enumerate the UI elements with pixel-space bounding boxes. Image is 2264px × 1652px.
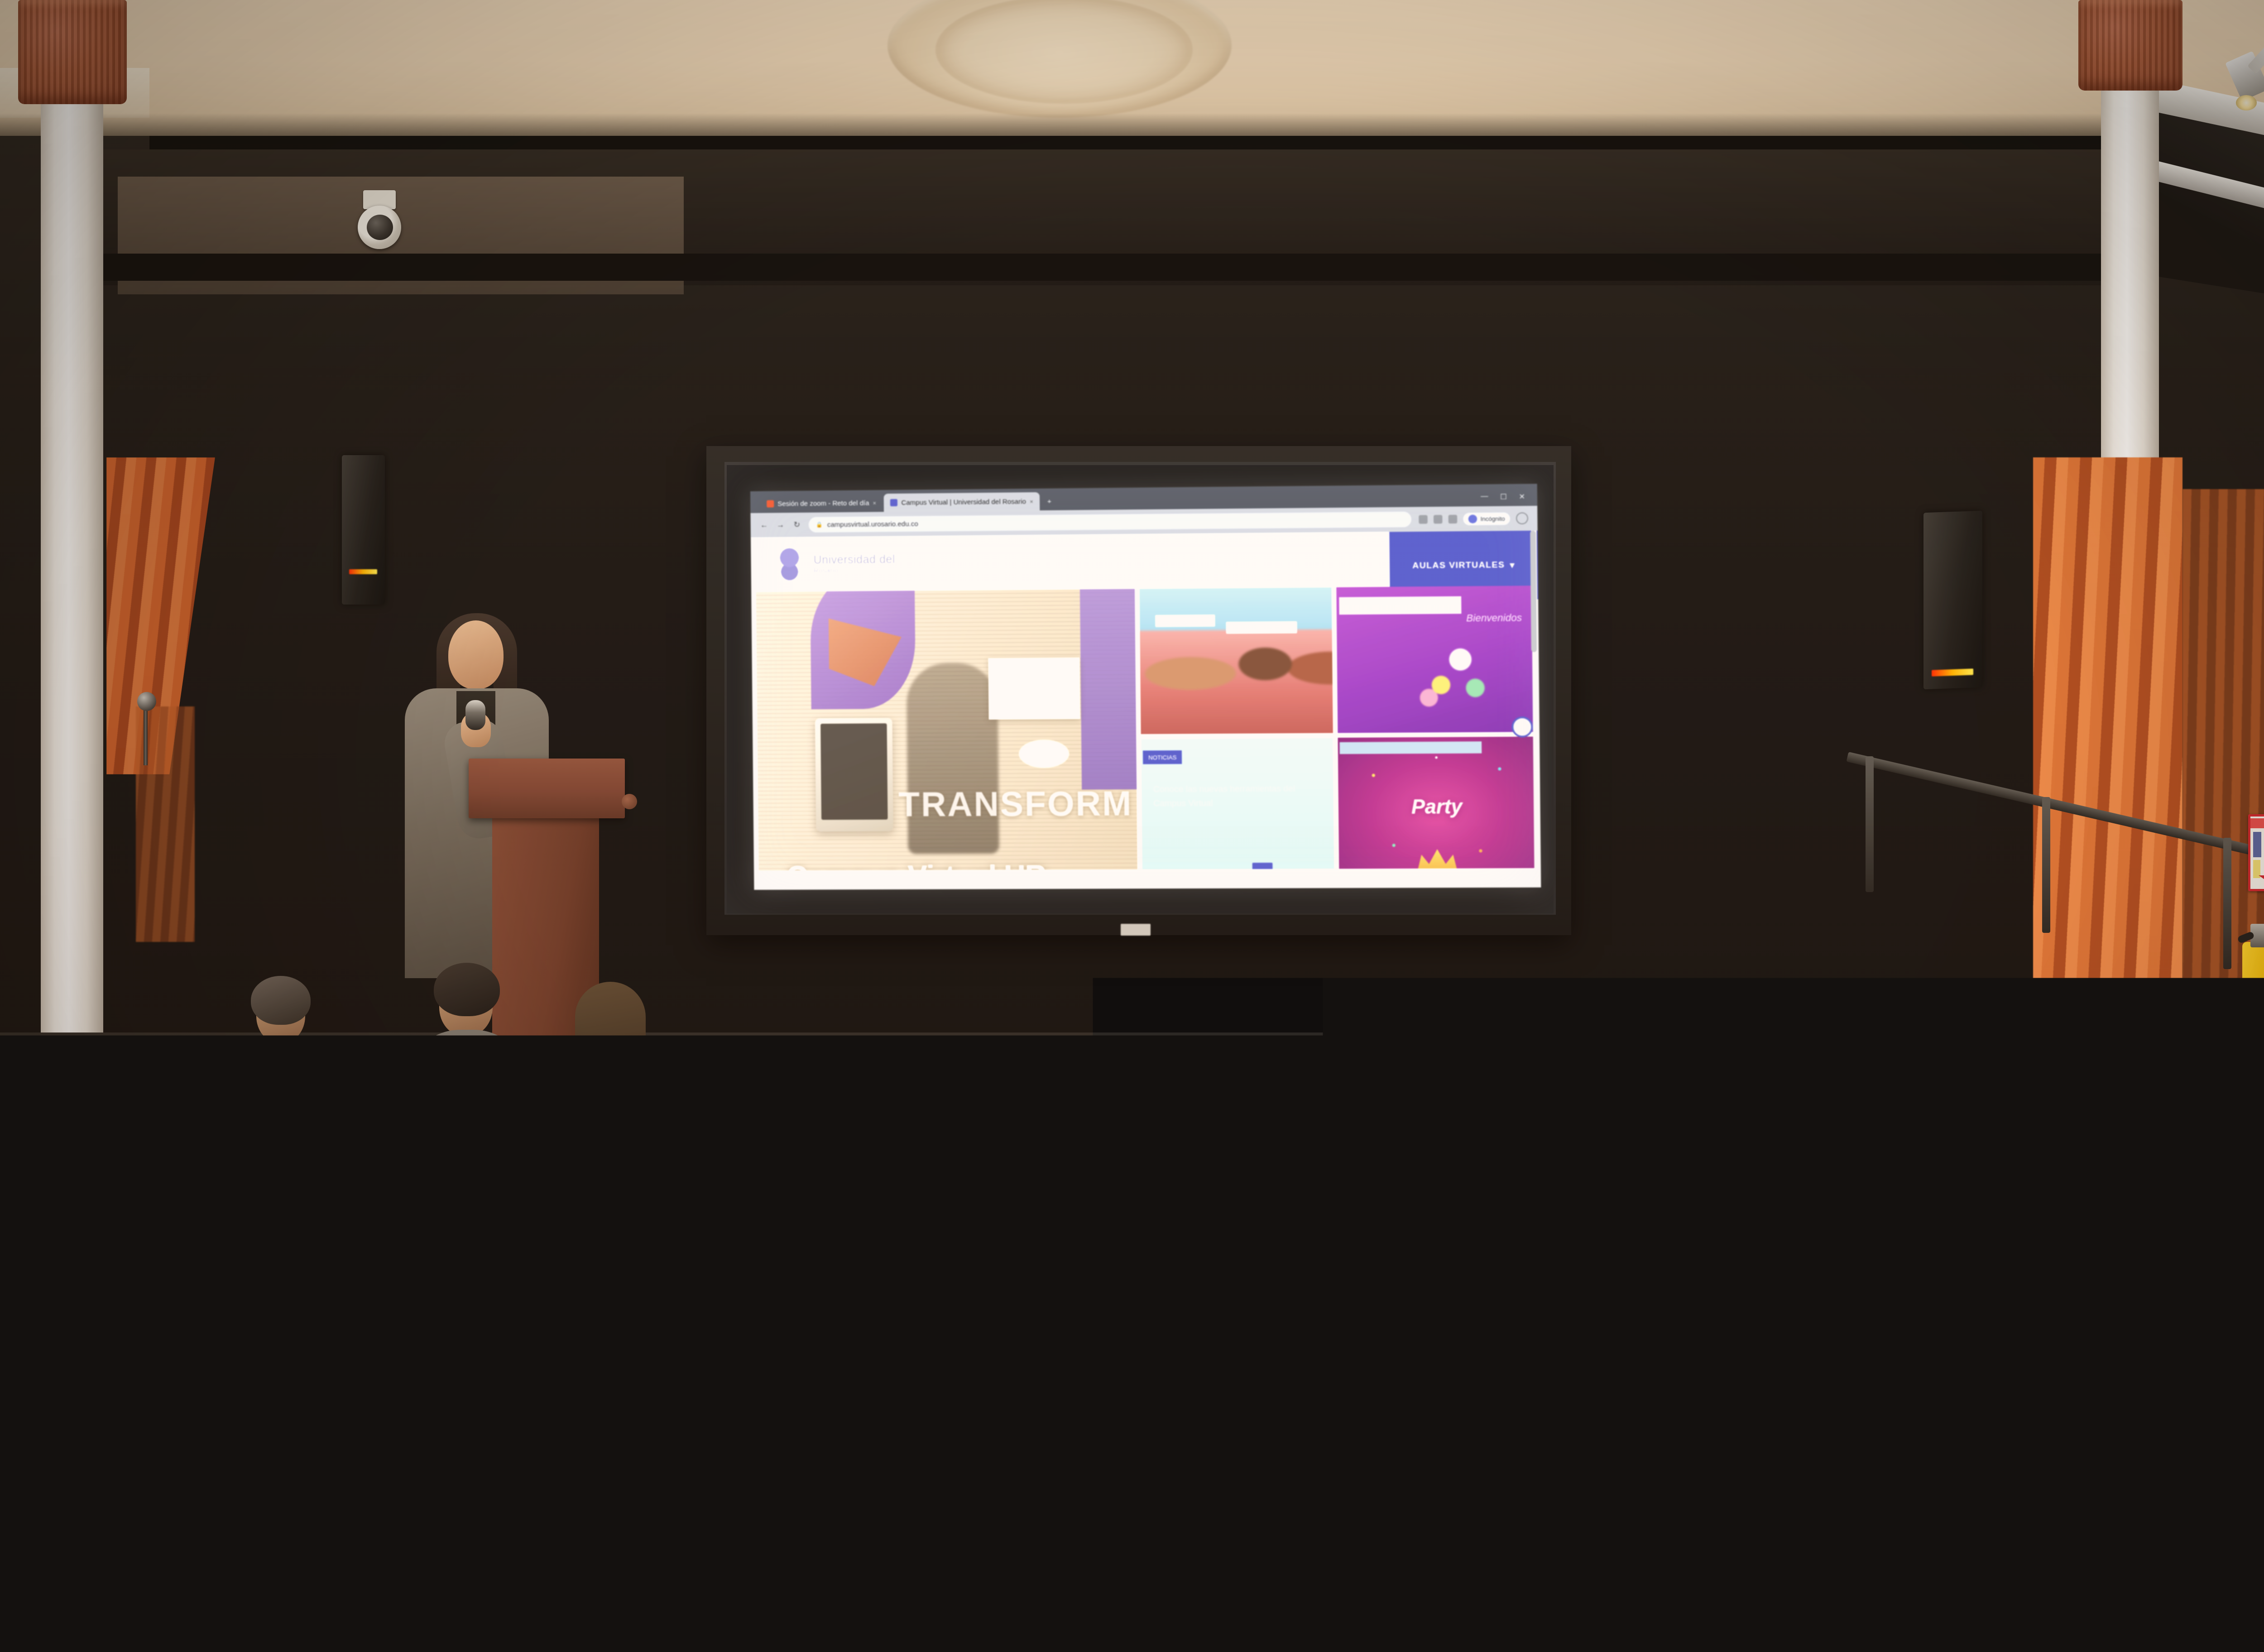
chair	[1906, 1440, 2151, 1594]
chair	[1666, 1349, 1847, 1485]
audience	[0, 0, 2264, 1652]
person-body	[2214, 1155, 2264, 1499]
chair	[86, 1426, 321, 1580]
person-hair	[2137, 1006, 2232, 1187]
chair	[847, 1494, 1055, 1644]
person-hair	[2246, 1025, 2264, 1161]
person-hair	[1413, 1175, 1544, 1301]
person-hair	[251, 976, 311, 1025]
person-hair	[839, 1111, 964, 1234]
auditorium-scene: Sesión de zoom - Reto del día × Campus V…	[0, 0, 2264, 1652]
chair	[557, 1445, 783, 1594]
person-hair	[694, 1046, 796, 1146]
glasses-icon	[2045, 1173, 2088, 1183]
person-hair	[1056, 1185, 1173, 1300]
logo-patch	[489, 1236, 522, 1247]
chair	[1295, 1467, 1549, 1621]
person-hair	[434, 963, 500, 1016]
glasses-icon	[690, 1109, 740, 1119]
person-hair	[1760, 1042, 1874, 1259]
